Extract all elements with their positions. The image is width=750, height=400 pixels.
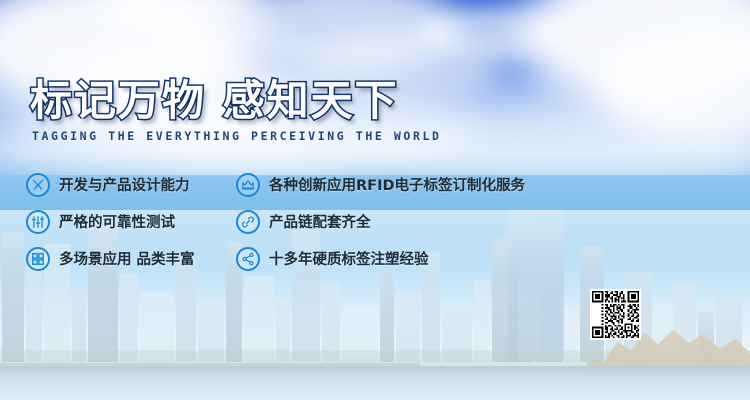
- sliders-icon: [26, 210, 50, 234]
- feature-item-development[interactable]: 开发与产品设计能力: [26, 173, 236, 197]
- feature-row: 开发与产品设计能力 各种创新应用RFID电子标签订制化服务: [26, 166, 586, 203]
- headline: 标记万物 感知天下: [30, 78, 399, 124]
- feature-row: 多场景应用 品类丰富 十多年硬质标签注塑经验: [26, 240, 586, 277]
- feature-item-experience[interactable]: 十多年硬质标签注塑经验: [236, 247, 586, 271]
- qr-code-icon[interactable]: [590, 289, 641, 340]
- feature-item-applications[interactable]: 多场景应用 品类丰富: [26, 247, 236, 271]
- feature-label: 严格的可靠性测试: [59, 211, 175, 232]
- feature-item-rfid-service[interactable]: 各种创新应用RFID电子标签订制化服务: [236, 173, 586, 197]
- feature-label: 十多年硬质标签注塑经验: [269, 248, 429, 269]
- promo-banner: 标记万物 感知天下 TAGGING THE EVERYTHING PERCEIV…: [0, 0, 750, 400]
- share-icon: [236, 247, 260, 271]
- feature-label: 多场景应用 品类丰富: [59, 248, 195, 269]
- feature-item-reliability-testing[interactable]: 严格的可靠性测试: [26, 210, 236, 234]
- grid-icon: [26, 247, 50, 271]
- feature-label: 产品链配套齐全: [269, 211, 371, 232]
- tools-icon: [26, 173, 50, 197]
- link-icon: [236, 210, 260, 234]
- feature-row: 严格的可靠性测试 产品链配套齐全: [26, 203, 586, 240]
- feature-list: 开发与产品设计能力 各种创新应用RFID电子标签订制化服务: [26, 166, 586, 277]
- feature-item-supply-chain[interactable]: 产品链配套齐全: [236, 210, 586, 234]
- feature-label: 各种创新应用RFID电子标签订制化服务: [269, 174, 525, 195]
- crown-icon: [236, 173, 260, 197]
- subheadline: TAGGING THE EVERYTHING PERCEIVING THE WO…: [32, 129, 442, 143]
- feature-label: 开发与产品设计能力: [59, 174, 190, 195]
